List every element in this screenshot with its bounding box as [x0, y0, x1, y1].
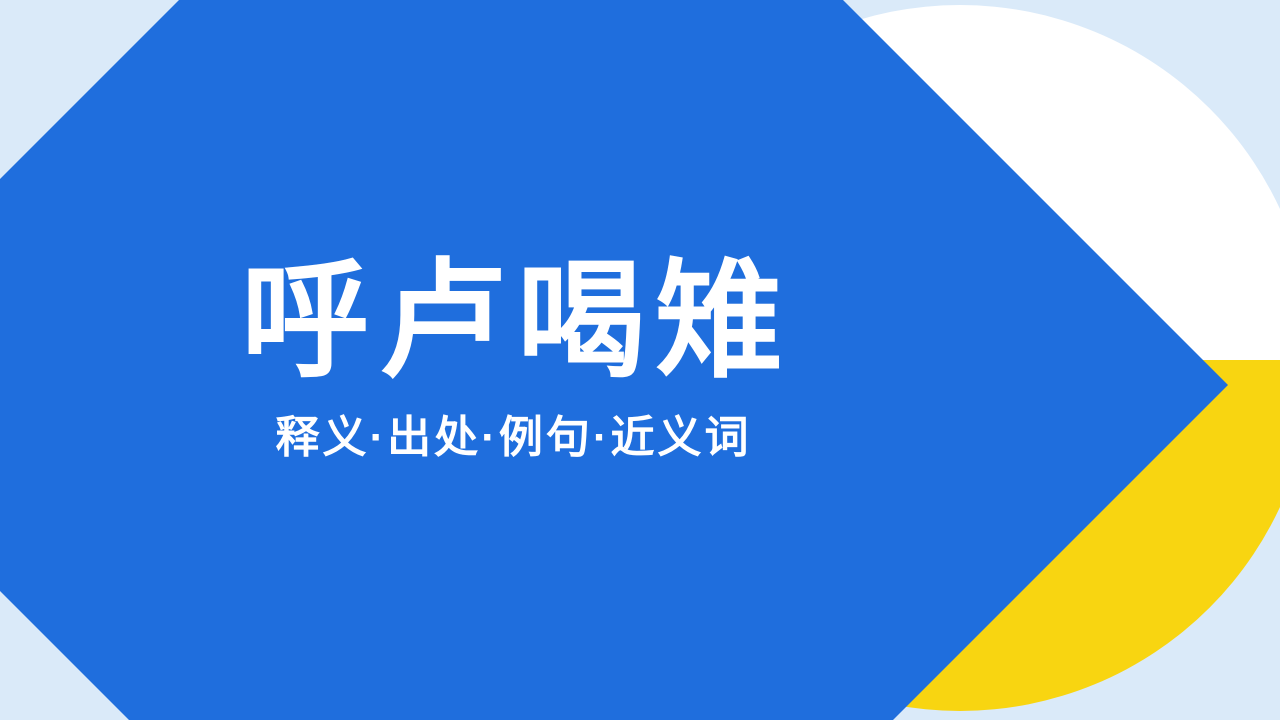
slide-canvas: 呼卢喝雉 释义·出处·例句·近义词	[0, 0, 1280, 720]
diamond-clip	[0, 0, 1280, 720]
decorative-diamond	[0, 0, 1228, 720]
